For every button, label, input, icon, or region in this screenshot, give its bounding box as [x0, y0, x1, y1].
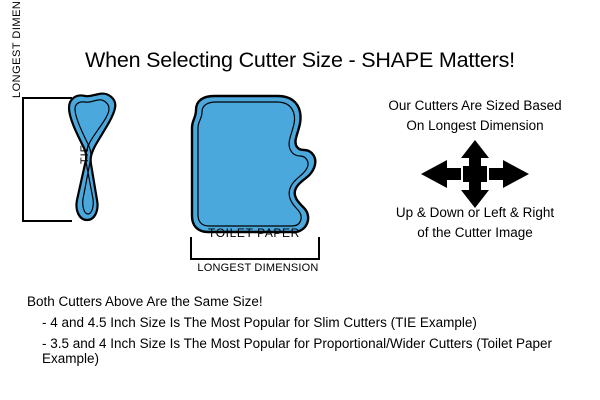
tie-longest-dimension-label: LONGEST DIMENSION: [11, 0, 23, 98]
notes-bullet-2: - 3.5 and 4 Inch Size Is The Most Popula…: [42, 336, 600, 366]
tie-shape-outline: [69, 94, 115, 220]
four-way-arrows-icon: [413, 140, 537, 208]
toilet-paper-shape-text: TOILET PAPER: [208, 226, 300, 240]
notes-heading: Both Cutters Above Are the Same Size!: [27, 294, 263, 309]
toilet-paper-dimension-left-tick: [190, 237, 192, 259]
toilet-paper-dimension-horizontal-line: [190, 258, 320, 260]
right-panel-line-3: Up & Down or Left & Right: [360, 205, 590, 220]
toilet-paper-longest-dimension-label: LONGEST DIMENSION: [188, 262, 328, 274]
notes-bullet-1: - 4 and 4.5 Inch Size Is The Most Popula…: [42, 315, 477, 330]
tie-shape-text: TIE: [79, 144, 91, 164]
tie-cutter-shape: TIE: [55, 88, 165, 228]
page-title: When Selecting Cutter Size - SHAPE Matte…: [0, 48, 600, 73]
tie-dimension-vertical-line: [22, 97, 24, 221]
toilet-paper-dimension-right-tick: [318, 237, 320, 259]
right-panel-line-1: Our Cutters Are Sized Based: [360, 98, 590, 113]
right-panel-line-2: On Longest Dimension: [360, 118, 590, 133]
toilet-paper-cutter-shape: [178, 88, 338, 248]
right-panel-line-4: of the Cutter Image: [360, 225, 590, 240]
infographic-canvas: When Selecting Cutter Size - SHAPE Matte…: [0, 0, 600, 400]
toilet-paper-shape-outline: [192, 96, 315, 232]
